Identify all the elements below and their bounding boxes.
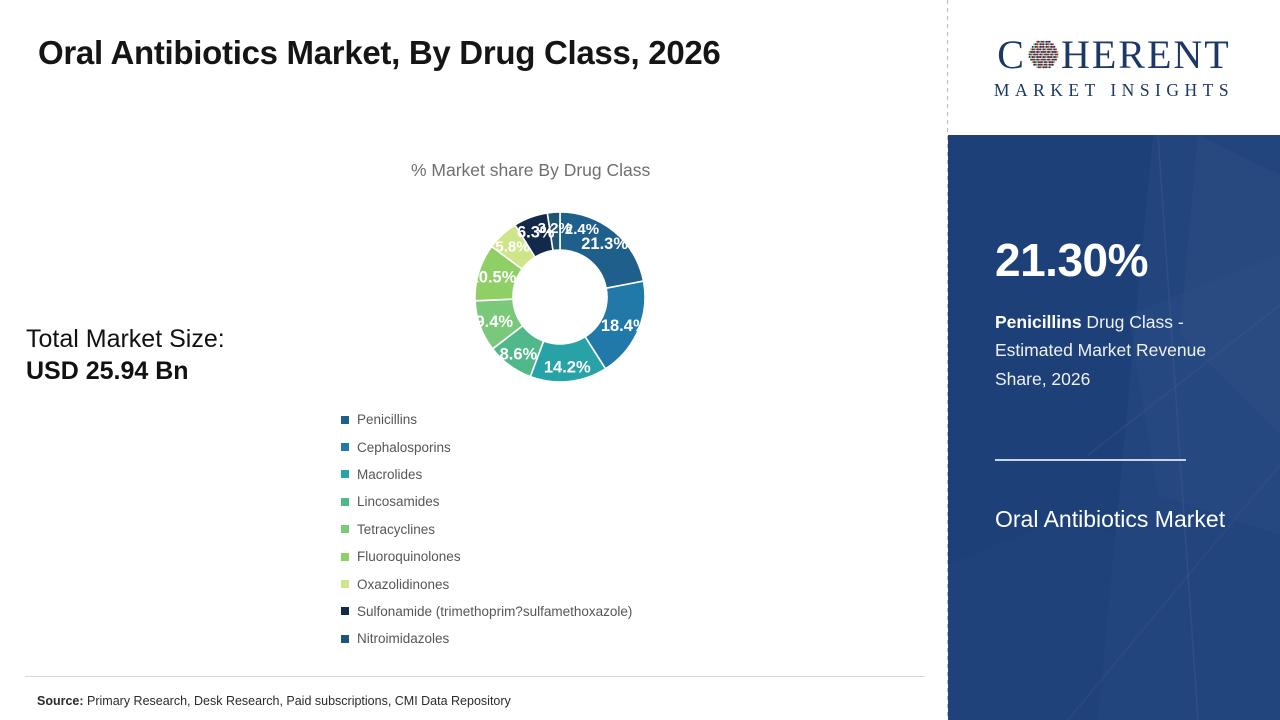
legend-item: Oxazolidinones (341, 570, 632, 597)
legend-swatch (341, 580, 349, 588)
source-text: Primary Research, Desk Research, Paid su… (84, 694, 511, 708)
legend-item: Cephalosporins (341, 433, 632, 460)
source-note: Source: Primary Research, Desk Research,… (37, 694, 511, 708)
legend-swatch (341, 470, 349, 478)
legend-item: Sulfonamide (trimethoprim?sulfamethoxazo… (341, 598, 632, 625)
legend-label: Tetracyclines (357, 522, 435, 537)
legend-swatch (341, 443, 349, 451)
highlight-stat: 21.30% (995, 237, 1148, 283)
highlight-divider (995, 459, 1186, 461)
legend-swatch (341, 416, 349, 424)
donut-slice-label: 8.6% (500, 345, 538, 363)
left-content-panel: Oral Antibiotics Market, By Drug Class, … (0, 0, 947, 720)
logo-wordmark: C HERENT (997, 35, 1230, 75)
total-market-size-label: Total Market Size: (26, 324, 225, 355)
company-logo: C HERENT MARKET INSIGHTS (948, 0, 1280, 135)
donut-chart-svg: 21.3%18.4%14.2%8.6%9.4%10.5%5.8%6.3%3.2%… (458, 212, 663, 382)
chart-legend: PenicillinsCephalosporinsMacrolidesLinco… (341, 406, 632, 653)
legend-swatch (341, 525, 349, 533)
legend-item: Nitroimidazoles (341, 625, 632, 652)
legend-label: Macrolides (357, 467, 422, 482)
logo-subtitle: MARKET INSIGHTS (994, 80, 1234, 101)
logo-word-herent: HERENT (1061, 35, 1231, 75)
legend-label: Sulfonamide (trimethoprim?sulfamethoxazo… (357, 604, 632, 619)
legend-swatch (341, 498, 349, 506)
donut-slice-label: 18.4% (601, 317, 648, 335)
legend-label: Fluoroquinolones (357, 549, 461, 564)
legend-label: Lincosamides (357, 494, 440, 509)
legend-item: Fluoroquinolones (341, 543, 632, 570)
legend-item: Penicillins (341, 406, 632, 433)
globe-icon (1027, 38, 1060, 71)
legend-label: Oxazolidinones (357, 577, 449, 592)
legend-label: Cephalosporins (357, 440, 451, 455)
highlight-description: Penicillins Drug Class - Estimated Marke… (995, 308, 1245, 393)
legend-item: Macrolides (341, 461, 632, 488)
legend-swatch (341, 553, 349, 561)
page-title: Oral Antibiotics Market, By Drug Class, … (38, 34, 720, 72)
total-market-size: Total Market Size: USD 25.94 Bn (26, 324, 225, 389)
logo-letter-c: C (997, 35, 1026, 75)
highlight-lead: Penicillins (995, 312, 1082, 332)
legend-swatch (341, 635, 349, 643)
donut-slice-label: 9.4% (475, 313, 513, 331)
donut-slice-label: 14.2% (544, 359, 591, 377)
right-highlight-panel: C HERENT MARKET INSIGHTS 21.30% Penicill… (948, 0, 1280, 720)
market-name: Oral Antibiotics Market (995, 500, 1245, 539)
chart-subtitle: % Market share By Drug Class (411, 160, 650, 181)
donut-chart: 21.3%18.4%14.2%8.6%9.4%10.5%5.8%6.3%3.2%… (458, 212, 663, 382)
legend-label: Nitroimidazoles (357, 631, 449, 646)
background-artwork (948, 135, 1280, 720)
source-label: Source: (37, 694, 84, 708)
legend-item: Lincosamides (341, 488, 632, 515)
donut-slice-label: 10.5% (470, 269, 517, 287)
legend-label: Penicillins (357, 412, 417, 427)
total-market-size-value: USD 25.94 Bn (26, 355, 225, 389)
footer-divider (25, 676, 925, 677)
legend-swatch (341, 607, 349, 615)
donut-slice-label-extra: 2.4% (565, 221, 599, 238)
legend-item: Tetracyclines (341, 516, 632, 543)
